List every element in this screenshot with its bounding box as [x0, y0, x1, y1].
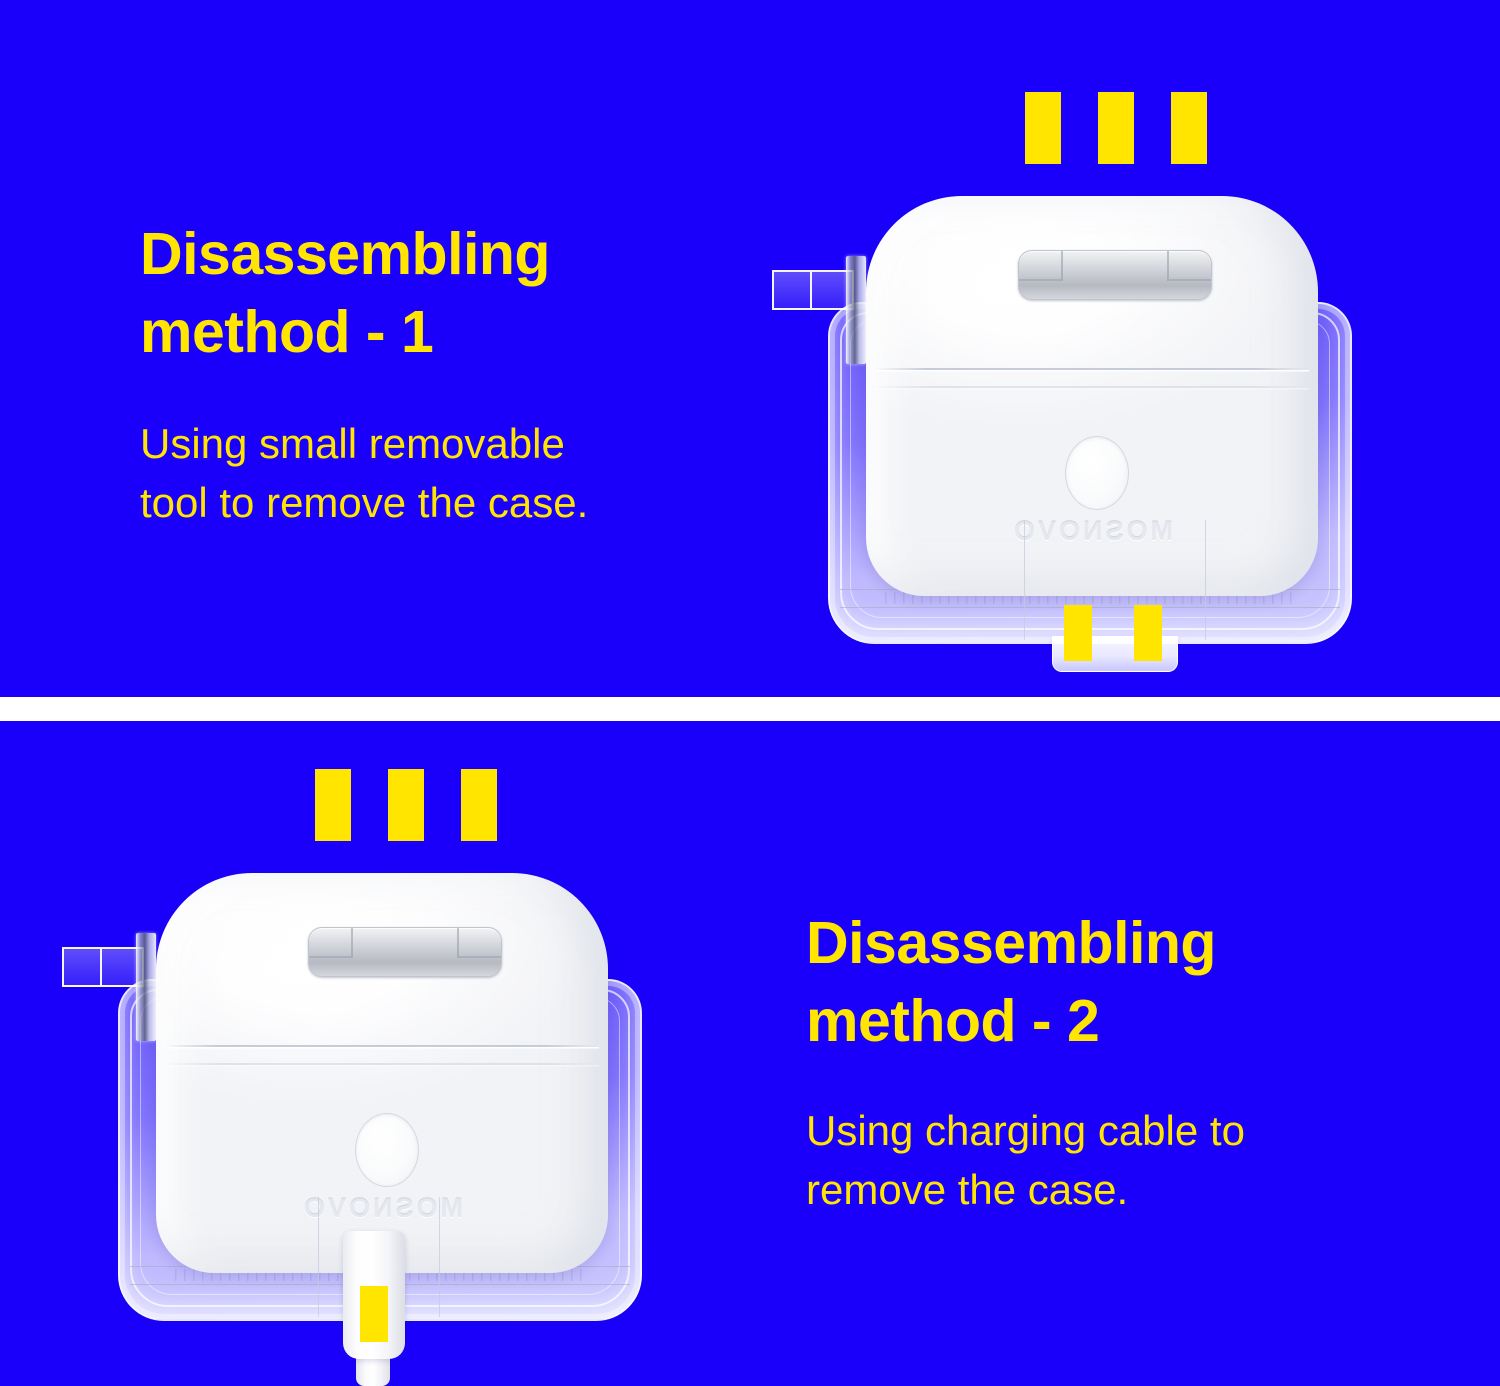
removal-tool-icon: [62, 947, 182, 983]
hinge-underline: [1019, 279, 1061, 281]
removal-tool-blade: [62, 947, 144, 987]
arrow-up-icon: [388, 769, 424, 841]
removal-tool-blade-split: [100, 949, 102, 985]
text-block-method-1: Disassembling method - 1 Using small rem…: [140, 216, 800, 533]
removal-tool-blade-split: [810, 272, 812, 308]
arrow-up-icon: [1171, 92, 1207, 164]
arrow-up-icon: [1064, 605, 1092, 661]
hinge-notch: [1061, 251, 1063, 281]
page-subtitle: Using charging cable to remove the case.: [806, 1101, 1446, 1220]
hinge-underline: [309, 956, 351, 958]
lid-seam-line-secondary: [875, 386, 1309, 388]
removal-tool-stem: [136, 933, 156, 1041]
page-title: Disassembling method - 1: [140, 216, 800, 372]
panel-method-1: Disassembling method - 1 Using small rem…: [0, 0, 1500, 697]
hinge-underline: [1169, 279, 1211, 281]
removal-tool-blade: [772, 270, 854, 310]
page-title: Disassembling method - 2: [806, 905, 1446, 1061]
hinge-icon: [308, 927, 502, 977]
hinge-notch: [457, 928, 459, 958]
arrow-up-icon: [1098, 92, 1134, 164]
removal-tool-icon: [772, 270, 892, 306]
product-image-method-1: MOSNOVO: [770, 80, 1430, 660]
arrow-up-icon: [1134, 605, 1162, 661]
panel-divider: [0, 697, 1500, 723]
port-window: [1024, 520, 1206, 640]
product-image-method-2: MOSNOVO: [60, 761, 720, 1386]
removal-tool-stem: [846, 256, 866, 364]
hinge-notch: [351, 928, 353, 958]
lid-seam-line: [165, 1045, 599, 1047]
arrow-up-icon: [1025, 92, 1061, 164]
pairing-button-icon: [355, 1113, 419, 1187]
instruction-graphic: Disassembling method - 1 Using small rem…: [0, 0, 1500, 1386]
hinge-underline: [459, 956, 501, 958]
lid-seam-line: [875, 368, 1309, 370]
arrow-up-icon: [360, 1286, 388, 1342]
panel-method-2: Disassembling method - 2 Using charging …: [0, 721, 1500, 1386]
arrow-up-icon: [461, 769, 497, 841]
text-block-method-2: Disassembling method - 2 Using charging …: [806, 905, 1446, 1220]
lid-seam-line-secondary: [165, 1063, 599, 1065]
hinge-icon: [1018, 250, 1212, 300]
page-subtitle: Using small removable tool to remove the…: [140, 414, 800, 533]
pairing-button-icon: [1065, 436, 1129, 510]
hinge-notch: [1167, 251, 1169, 281]
arrow-up-icon: [315, 769, 351, 841]
